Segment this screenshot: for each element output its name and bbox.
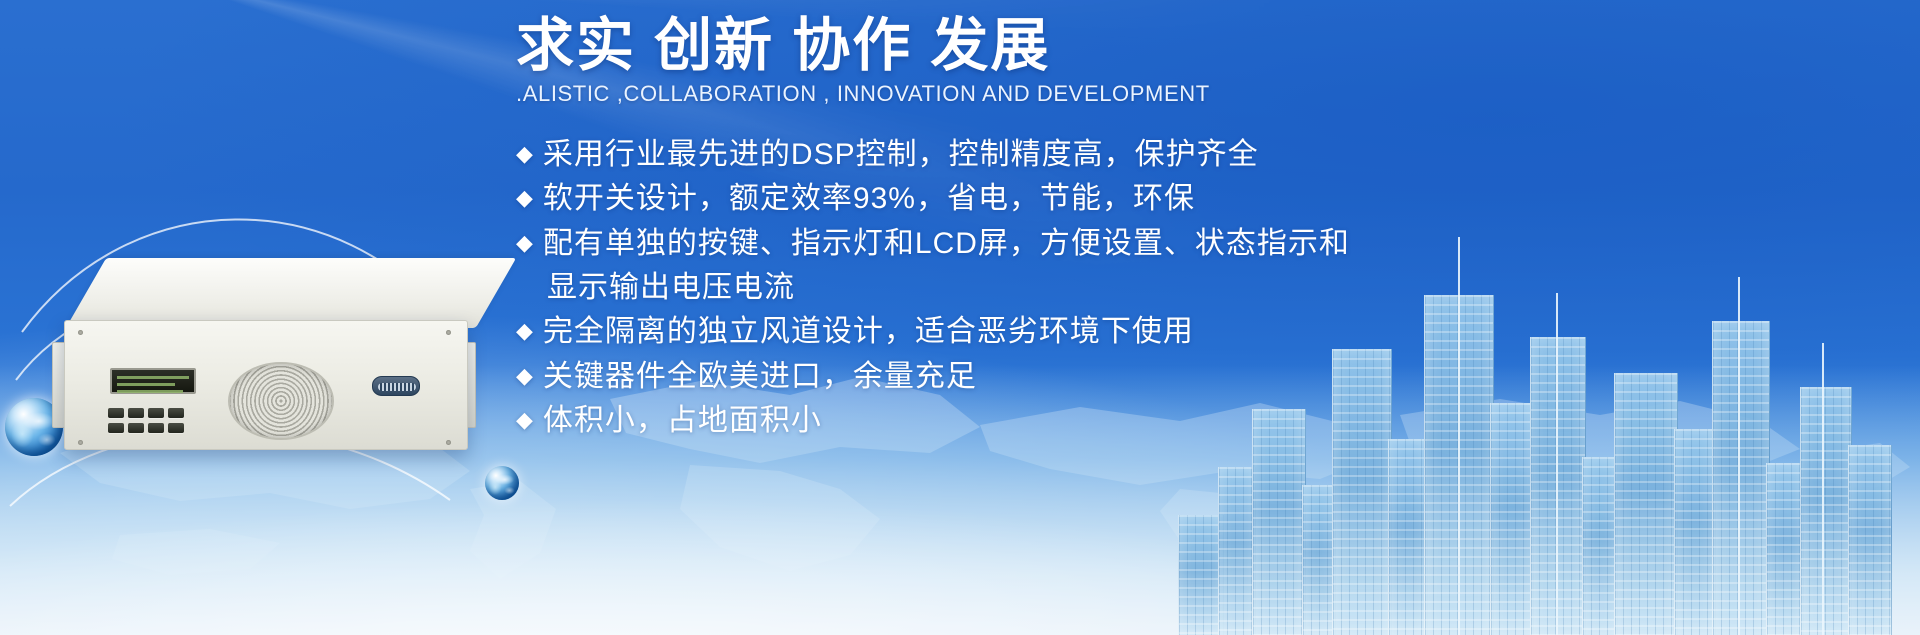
panel-screw — [446, 330, 451, 335]
list-item: ◆ 关键器件全欧美进口，余量充足 — [516, 355, 1476, 399]
list-item-text: 体积小，占地面积小 — [543, 399, 822, 443]
list-item-text: 配有单独的按键、指示灯和LCD屏，方便设置、状态指示和 — [543, 222, 1350, 266]
list-item-text: 关键器件全欧美进口，余量充足 — [543, 355, 977, 399]
keypad — [108, 408, 200, 438]
device-top-panel — [66, 258, 516, 328]
diamond-bullet-icon: ◆ — [516, 355, 534, 397]
list-item: ◆ 软开关设计，额定效率93%，省电，节能，环保 — [516, 177, 1476, 221]
list-item-text: 完全隔离的独立风道设计，适合恶劣环境下使用 — [543, 310, 1194, 354]
headline: 求实 创新 协作 发展 — [516, 16, 1476, 77]
banner-copy: 求实 创新 协作 发展 .ALISTIC ,COLLABORATION , IN… — [516, 16, 1476, 444]
list-item-continuation: 显示输出电压电流 — [516, 266, 1476, 310]
list-item-text: 软开关设计，额定效率93%，省电，节能，环保 — [543, 177, 1195, 221]
diamond-bullet-icon: ◆ — [516, 177, 534, 219]
panel-screw — [78, 440, 83, 445]
panel-screw — [78, 330, 83, 335]
list-item-text: 采用行业最先进的DSP控制，控制精度高，保护齐全 — [543, 133, 1259, 177]
vga-connector — [372, 376, 420, 396]
diamond-bullet-icon: ◆ — [516, 310, 534, 352]
list-item: ◆ 配有单独的按键、指示灯和LCD屏，方便设置、状态指示和 — [516, 222, 1476, 266]
feature-list: ◆ 采用行业最先进的DSP控制，控制精度高，保护齐全 ◆ 软开关设计，额定效率9… — [516, 133, 1476, 444]
ventilation-fan-grille — [228, 362, 334, 440]
diamond-bullet-icon: ◆ — [516, 399, 534, 441]
rack-mount-power-supply — [58, 258, 508, 518]
list-item: ◆ 体积小，占地面积小 — [516, 399, 1476, 443]
diamond-bullet-icon: ◆ — [516, 222, 534, 264]
marketing-banner: 求实 创新 协作 发展 .ALISTIC ,COLLABORATION , IN… — [0, 0, 1920, 635]
diamond-bullet-icon: ◆ — [516, 133, 534, 175]
list-item-text: 显示输出电压电流 — [547, 266, 795, 310]
list-item: ◆ 采用行业最先进的DSP控制，控制精度高，保护齐全 — [516, 133, 1476, 177]
subheadline: .ALISTIC ,COLLABORATION , INNOVATION AND… — [516, 81, 1476, 107]
panel-screw — [446, 440, 451, 445]
list-item: ◆ 完全隔离的独立风道设计，适合恶劣环境下使用 — [516, 310, 1476, 354]
lcd-display — [110, 368, 196, 394]
